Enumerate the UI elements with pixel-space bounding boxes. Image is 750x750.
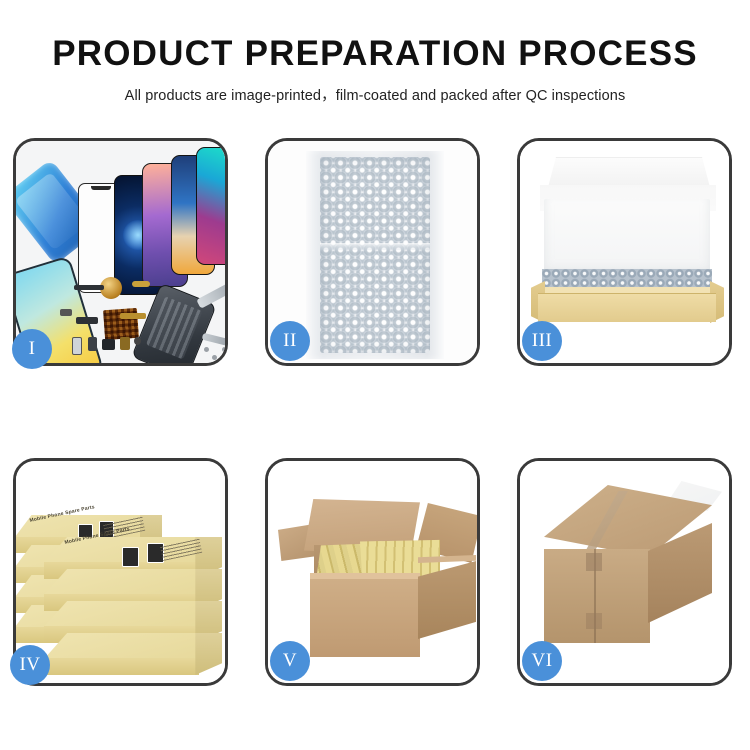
step-panel-1: I	[13, 138, 228, 366]
phone-teal	[196, 147, 225, 265]
step-badge-6: VI	[522, 641, 562, 681]
part-camera	[102, 339, 115, 350]
part-connector	[76, 317, 98, 324]
step-panel-5: V	[265, 458, 480, 686]
step-panel-6: VI	[517, 458, 732, 686]
box-top-face	[44, 633, 222, 659]
part-sim-tray	[120, 337, 130, 350]
step-badge-2: II	[270, 321, 310, 361]
screw-3	[204, 347, 209, 352]
step-badge-4: IV	[10, 645, 50, 685]
step-panel-2: II	[265, 138, 480, 366]
step-panel-4: Mobile Phone Spare Parts	[13, 458, 228, 686]
carton-tab-lower	[586, 613, 602, 629]
carton-front-face	[310, 579, 420, 657]
step-image-1	[16, 141, 225, 363]
box-top-face	[44, 569, 222, 595]
screwdriver-tool	[202, 333, 225, 349]
wrap-edge-highlight	[306, 151, 444, 359]
step-panel-3: III	[517, 138, 732, 366]
box-side-face	[195, 633, 222, 675]
step-image-4: Mobile Phone Spare Parts	[16, 461, 225, 683]
box-print-phone-1	[122, 547, 139, 567]
part-gold-flex	[120, 313, 146, 319]
stacked-boxes-illustration: Mobile Phone Spare Parts	[16, 461, 225, 683]
page-title: PRODUCT PREPARATION PROCESS	[0, 0, 750, 73]
steps-grid: I II	[13, 138, 737, 686]
product-preparation-infographic: PRODUCT PREPARATION PROCESS All products…	[0, 0, 750, 750]
box-top-face	[44, 601, 222, 627]
screw-2	[222, 347, 225, 352]
carton-tab-upper	[586, 553, 602, 571]
part-antenna	[60, 309, 72, 316]
step-badge-1: I	[12, 329, 52, 369]
box-front-face	[44, 658, 199, 675]
page-subtitle: All products are image-printed，film-coat…	[0, 73, 750, 105]
foam-sheet	[544, 199, 710, 275]
part-screw-cap	[134, 337, 141, 345]
header: PRODUCT PREPARATION PROCESS All products…	[0, 0, 750, 105]
phone-parts-illustration	[16, 141, 225, 363]
step-badge-3: III	[522, 321, 562, 361]
stack-box-front-4	[44, 633, 222, 675]
part-sensor	[72, 337, 82, 355]
box-front-panel	[538, 293, 716, 322]
screw-1	[212, 355, 217, 360]
part-flex-cable	[132, 281, 150, 287]
step-badge-5: V	[270, 641, 310, 681]
part-button	[88, 337, 97, 351]
part-speaker	[74, 285, 104, 290]
